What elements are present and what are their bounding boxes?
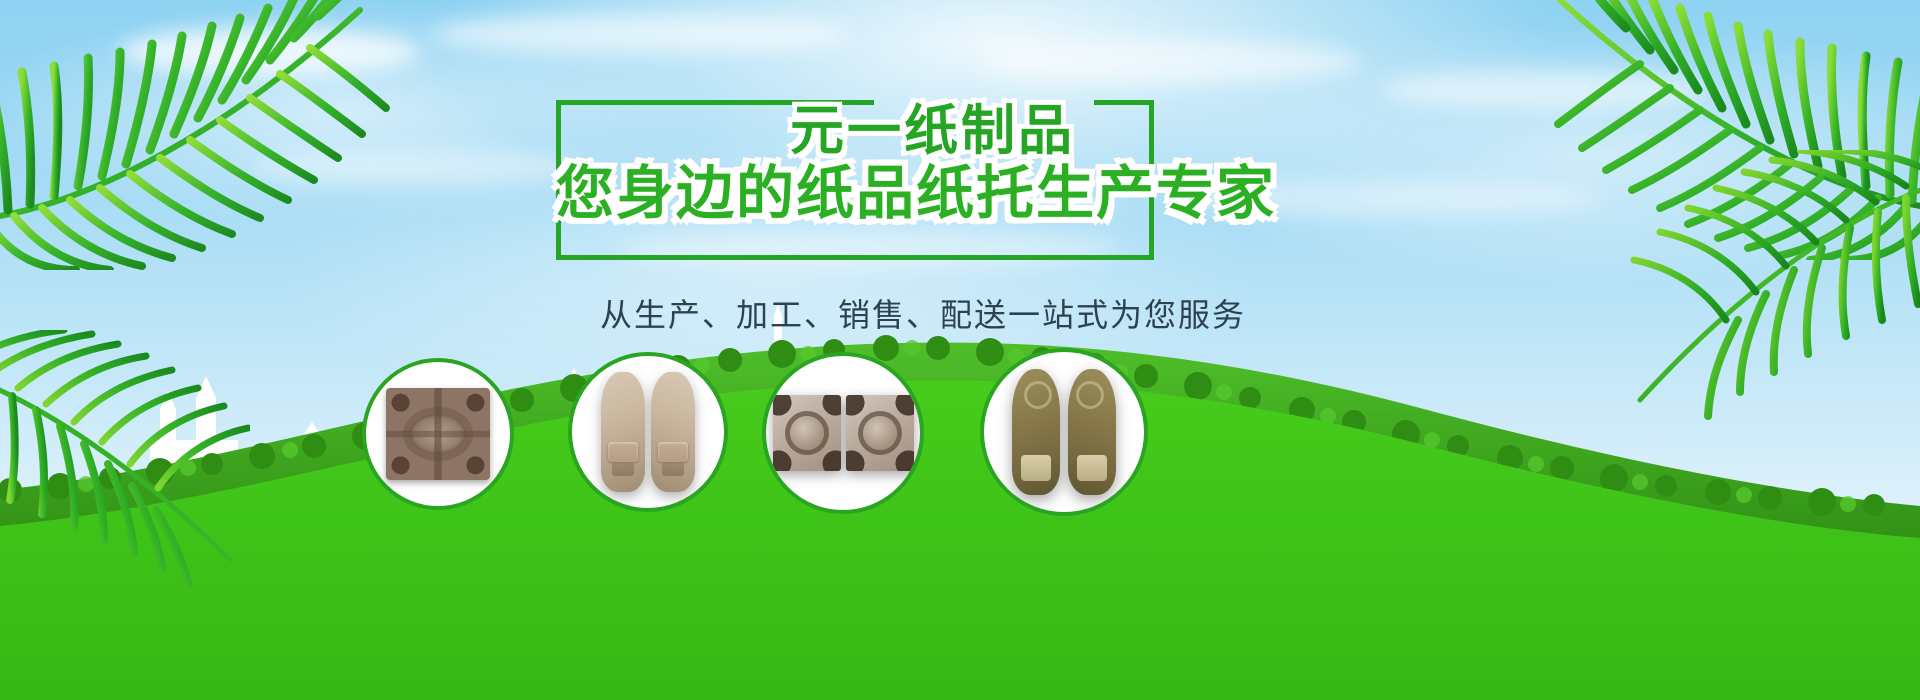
cloud-icon: [980, 40, 1360, 84]
palm-frond-icon: [1620, 150, 1920, 430]
cloud-icon: [430, 14, 850, 54]
pulp-corner-blocks-image: [773, 395, 914, 471]
molded-shoe-trees-image: [1012, 369, 1116, 495]
product-circle-pulp-corner-blocks[interactable]: [762, 352, 924, 514]
product-circle-molded-shoe-trees[interactable]: [980, 348, 1148, 516]
palm-frond-icon: [0, 0, 390, 270]
banner-subtitle: 从生产、加工、销售、配送一站式为您服务: [600, 290, 1246, 336]
product-circle-square-pulp-tray[interactable]: [362, 358, 514, 510]
promo-banner: 元一纸制品 您身边的纸品纸托生产专家 从生产、加工、销售、配送一站式为您服务: [0, 0, 1920, 700]
square-pulp-tray-image: [386, 388, 490, 480]
paper-insole-pair-image: [601, 372, 695, 492]
product-circle-paper-insole-pair[interactable]: [568, 352, 728, 512]
banner-title-line2: 您身边的纸品纸托生产专家: [556, 146, 1276, 230]
palm-frond-icon: [0, 330, 250, 590]
